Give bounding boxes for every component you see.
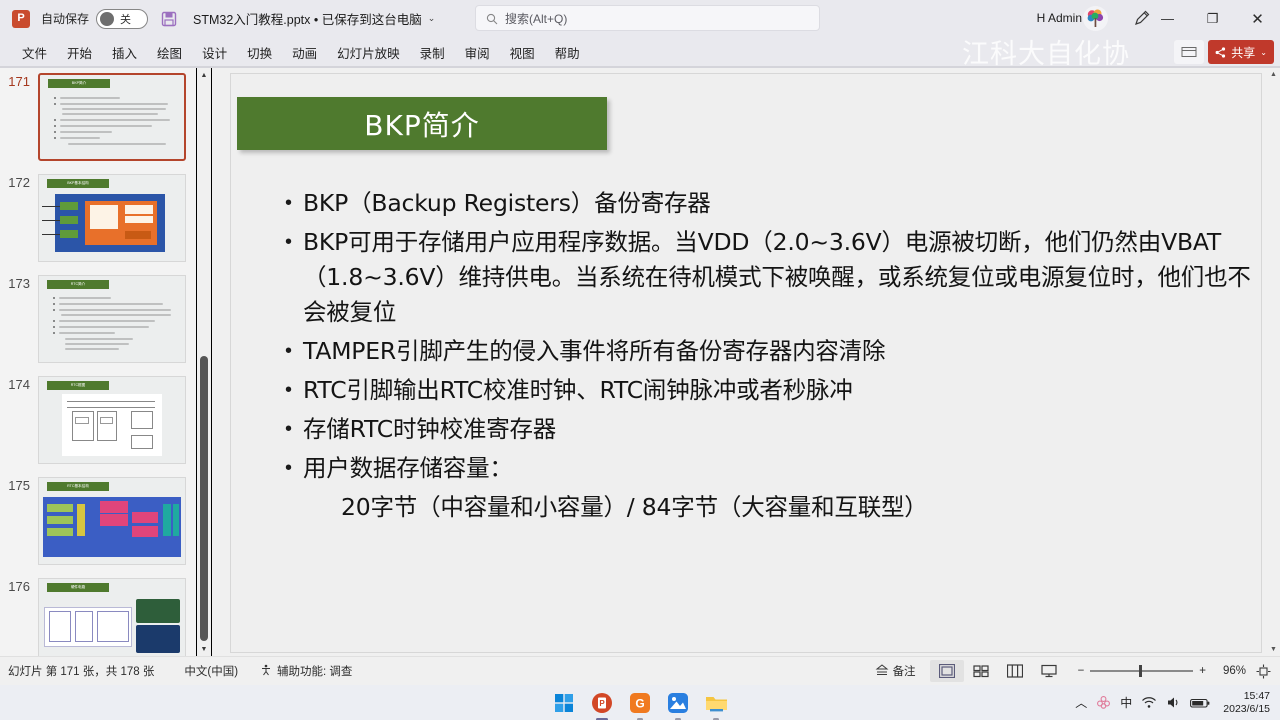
ime-flower-icon[interactable] xyxy=(1096,695,1111,710)
thumbnail-number: 172 xyxy=(5,175,30,190)
thumbnail-175[interactable]: RTC基本结构 xyxy=(38,477,186,565)
wegame-icon[interactable]: G xyxy=(627,690,653,716)
tab-help[interactable]: 帮助 xyxy=(546,40,589,65)
autosave-toggle[interactable]: 关 xyxy=(96,9,148,29)
powerpoint-taskbar-icon[interactable]: P xyxy=(589,690,615,716)
thumbnail-panel-scrollbar[interactable]: ▲ ▼ xyxy=(197,68,211,656)
search-icon xyxy=(486,12,498,24)
system-tray: ︿ 中 xyxy=(1075,685,1280,720)
search-input[interactable]: 搜索(Alt+Q) xyxy=(475,5,820,31)
tab-animations[interactable]: 动画 xyxy=(283,40,326,65)
save-disk-icon[interactable] xyxy=(160,10,177,27)
thumbnail-number: 173 xyxy=(5,276,30,291)
bullet-text: BKP可用于存储用户应用程序数据。当VDD（2.0~3.6V）电源被切断，他们仍… xyxy=(303,225,1254,330)
bullet-item: • 存储RTC时钟校准寄存器 xyxy=(279,412,1254,447)
bullet-marker: • xyxy=(279,451,303,486)
tab-draw[interactable]: 绘图 xyxy=(148,40,191,65)
ribbon-right-group: 共享 ⌄ xyxy=(1174,40,1274,64)
accessibility-status[interactable]: 辅助功能: 调查 xyxy=(260,663,352,679)
tab-home[interactable]: 开始 xyxy=(58,40,101,65)
slide-sorter-view-button[interactable] xyxy=(964,660,998,682)
bullet-sub-text: 20字节（中容量和小容量）/ 84字节（大容量和互联型） xyxy=(303,490,1254,525)
powerpoint-icon: P xyxy=(12,10,30,28)
thumbnail-title: RTC框图 xyxy=(47,381,109,390)
zoom-out-button[interactable]: − xyxy=(1078,665,1085,677)
share-icon xyxy=(1215,47,1226,58)
avatar[interactable] xyxy=(1083,6,1108,31)
bullet-item: • TAMPER引脚产生的侵入事件将所有备份寄存器内容清除 xyxy=(279,334,1254,369)
tray-chevron-up-icon[interactable]: ︿ xyxy=(1075,694,1087,711)
list-item[interactable]: 171 BKP简介 xyxy=(0,70,196,170)
list-item[interactable]: 175 RTC基本结构 xyxy=(0,474,196,574)
powerpoint-window: P 自动保存 关 STM32入门教程.pptx • 已保存到这台电脑 ⌄ 搜索(… xyxy=(0,0,1280,720)
clock-time: 15:47 xyxy=(1223,690,1270,703)
zoom-level-label[interactable]: 96% xyxy=(1212,665,1246,677)
slide-area-scrollbar[interactable]: ▲ ▼ xyxy=(1267,68,1280,656)
svg-text:P: P xyxy=(599,699,605,708)
taskbar-clock[interactable]: 15:47 2023/6/15 xyxy=(1223,690,1270,716)
chevron-down-icon[interactable]: ⌄ xyxy=(428,13,436,24)
thumbnail-title: RTC基本结构 xyxy=(47,482,109,491)
slide-editing-area: BKP简介 • BKP（Backup Registers）备份寄存器 • BKP… xyxy=(212,68,1280,656)
thumbnail-174[interactable]: RTC框图 xyxy=(38,376,186,464)
battery-icon[interactable] xyxy=(1190,697,1210,709)
bullet-text: TAMPER引脚产生的侵入事件将所有备份寄存器内容清除 xyxy=(303,334,885,369)
thumbnail-173[interactable]: RTC简介 xyxy=(38,275,186,363)
tab-file[interactable]: 文件 xyxy=(13,40,56,65)
slide-counter[interactable]: 幻灯片 第 171 张，共 178 张 xyxy=(8,663,154,679)
bullet-marker: • xyxy=(279,225,303,330)
list-item[interactable]: 174 RTC框图 xyxy=(0,373,196,473)
thumbnail-172[interactable]: BKP基本结构 xyxy=(38,174,186,262)
search-placeholder: 搜索(Alt+Q) xyxy=(505,10,567,27)
tab-design[interactable]: 设计 xyxy=(193,40,236,65)
normal-view-button[interactable] xyxy=(930,660,964,682)
accessibility-icon xyxy=(260,664,272,679)
tab-transitions[interactable]: 切换 xyxy=(238,40,281,65)
thumbnail-176[interactable]: 硬件电路 xyxy=(38,578,186,656)
taskbar-icons: P G xyxy=(551,690,729,716)
thumbnail-title: 硬件电路 xyxy=(47,583,109,592)
list-item[interactable]: 173 RTC简介 xyxy=(0,272,196,372)
scroll-up-icon[interactable]: ▲ xyxy=(197,68,211,82)
bullet-text: RTC引脚输出RTC校准时钟、RTC闹钟脉冲或者秒脉冲 xyxy=(303,373,853,408)
bullet-marker: • xyxy=(279,334,303,369)
tab-view[interactable]: 视图 xyxy=(501,40,544,65)
page-title: BKP简介 xyxy=(364,104,479,144)
status-bar: 幻灯片 第 171 张，共 178 张 中文(中国) 辅助功能: 调查 xyxy=(0,656,1280,685)
bullet-item: • 用户数据存储容量： xyxy=(279,451,1254,486)
thumbnail-title: RTC简介 xyxy=(47,280,109,289)
share-button[interactable]: 共享 ⌄ xyxy=(1208,40,1274,64)
tab-insert[interactable]: 插入 xyxy=(103,40,146,65)
file-explorer-icon[interactable] xyxy=(703,690,729,716)
bullet-item: • BKP可用于存储用户应用程序数据。当VDD（2.0~3.6V）电源被切断，他… xyxy=(279,225,1254,330)
reading-view-button[interactable] xyxy=(998,660,1032,682)
scroll-down-icon[interactable]: ▼ xyxy=(197,642,211,656)
thumbnail-number: 174 xyxy=(5,377,30,392)
language-indicator[interactable]: 中文(中国) xyxy=(184,663,238,679)
autosave-knob xyxy=(100,12,114,26)
bullet-text: 存储RTC时钟校准寄存器 xyxy=(303,412,556,447)
wifi-icon[interactable] xyxy=(1141,696,1157,709)
thumbnail-title: BKP基本结构 xyxy=(47,179,109,188)
list-item[interactable]: 176 硬件电路 xyxy=(0,575,196,656)
user-name-label: H Admin xyxy=(1037,11,1082,25)
bullet-item: • RTC引脚输出RTC校准时钟、RTC闹钟脉冲或者秒脉冲 xyxy=(279,373,1254,408)
tab-slideshow[interactable]: 幻灯片放映 xyxy=(328,40,409,65)
slideshow-view-button[interactable] xyxy=(1032,660,1066,682)
zoom-in-button[interactable]: + xyxy=(1199,665,1206,677)
thumbnail-number: 175 xyxy=(5,478,30,493)
bullet-marker: • xyxy=(279,412,303,447)
window-controls: — ❐ ✕ xyxy=(1145,0,1280,37)
zoom-slider-knob[interactable] xyxy=(1139,665,1142,677)
minimize-button[interactable]: — xyxy=(1145,0,1190,37)
share-caret-icon: ⌄ xyxy=(1260,48,1267,57)
windows-taskbar: P G xyxy=(0,685,1280,720)
svg-text:G: G xyxy=(635,696,644,710)
fit-to-window-icon[interactable] xyxy=(1252,660,1274,682)
tab-record[interactable]: 录制 xyxy=(411,40,454,65)
thumbnail-number: 176 xyxy=(5,579,30,594)
notes-icon xyxy=(875,664,889,679)
autosave-label: 自动保存 xyxy=(41,10,89,27)
volume-icon[interactable] xyxy=(1166,696,1181,709)
zoom-control[interactable]: − + 96% xyxy=(1078,665,1246,677)
accessibility-label: 辅助功能: 调查 xyxy=(277,663,352,679)
bullet-marker: • xyxy=(279,186,303,221)
thumbnail-171[interactable]: BKP简介 xyxy=(38,73,186,161)
blue-app-icon[interactable] xyxy=(665,690,691,716)
title-bar: P 自动保存 关 STM32入门教程.pptx • 已保存到这台电脑 ⌄ 搜索(… xyxy=(0,0,1280,37)
notes-label: 备注 xyxy=(893,663,916,679)
notes-button[interactable]: 备注 xyxy=(875,663,916,679)
list-item[interactable]: 172 BKP基本结构 xyxy=(0,171,196,271)
windows-start-icon[interactable] xyxy=(551,690,577,716)
clock-date: 2023/6/15 xyxy=(1223,703,1270,716)
slide-body-text[interactable]: • BKP（Backup Registers）备份寄存器 • BKP可用于存储用… xyxy=(279,186,1254,525)
bullet-item: • BKP（Backup Registers）备份寄存器 xyxy=(279,186,1254,221)
thumbnail-number: 171 xyxy=(5,74,30,89)
ime-language-indicator[interactable]: 中 xyxy=(1120,694,1132,711)
ribbon-tabs: 文件 开始 插入 绘图 设计 切换 动画 幻灯片放映 录制 审阅 视图 帮助 xyxy=(0,37,1280,68)
bullet-marker: • xyxy=(279,373,303,408)
scrollbar-thumb[interactable] xyxy=(200,356,208,641)
tab-review[interactable]: 审阅 xyxy=(456,40,499,65)
bullet-text: 用户数据存储容量： xyxy=(303,451,513,486)
document-title[interactable]: STM32入门教程.pptx • 已保存到这台电脑 xyxy=(193,9,422,28)
autosave-state-label: 关 xyxy=(120,11,131,27)
current-slide[interactable]: BKP简介 • BKP（Backup Registers）备份寄存器 • BKP… xyxy=(230,73,1262,653)
maximize-restore-button[interactable]: ❐ xyxy=(1190,0,1235,37)
slide-title-shape[interactable]: BKP简介 xyxy=(237,97,607,150)
thumbnail-title: BKP简介 xyxy=(48,79,110,88)
zoom-slider[interactable] xyxy=(1090,670,1193,672)
close-button[interactable]: ✕ xyxy=(1235,0,1280,37)
ribbon-collapse-icon[interactable] xyxy=(1174,40,1204,64)
scroll-down-icon[interactable]: ▼ xyxy=(1267,643,1280,656)
share-button-label: 共享 xyxy=(1231,44,1255,61)
bullet-text: BKP（Backup Registers）备份寄存器 xyxy=(303,186,711,221)
status-bar-right: 备注 xyxy=(875,660,1274,682)
scroll-up-icon[interactable]: ▲ xyxy=(1267,68,1280,81)
slide-thumbnail-panel[interactable]: 171 BKP简介 172 BKP基本结构 xyxy=(0,68,196,656)
